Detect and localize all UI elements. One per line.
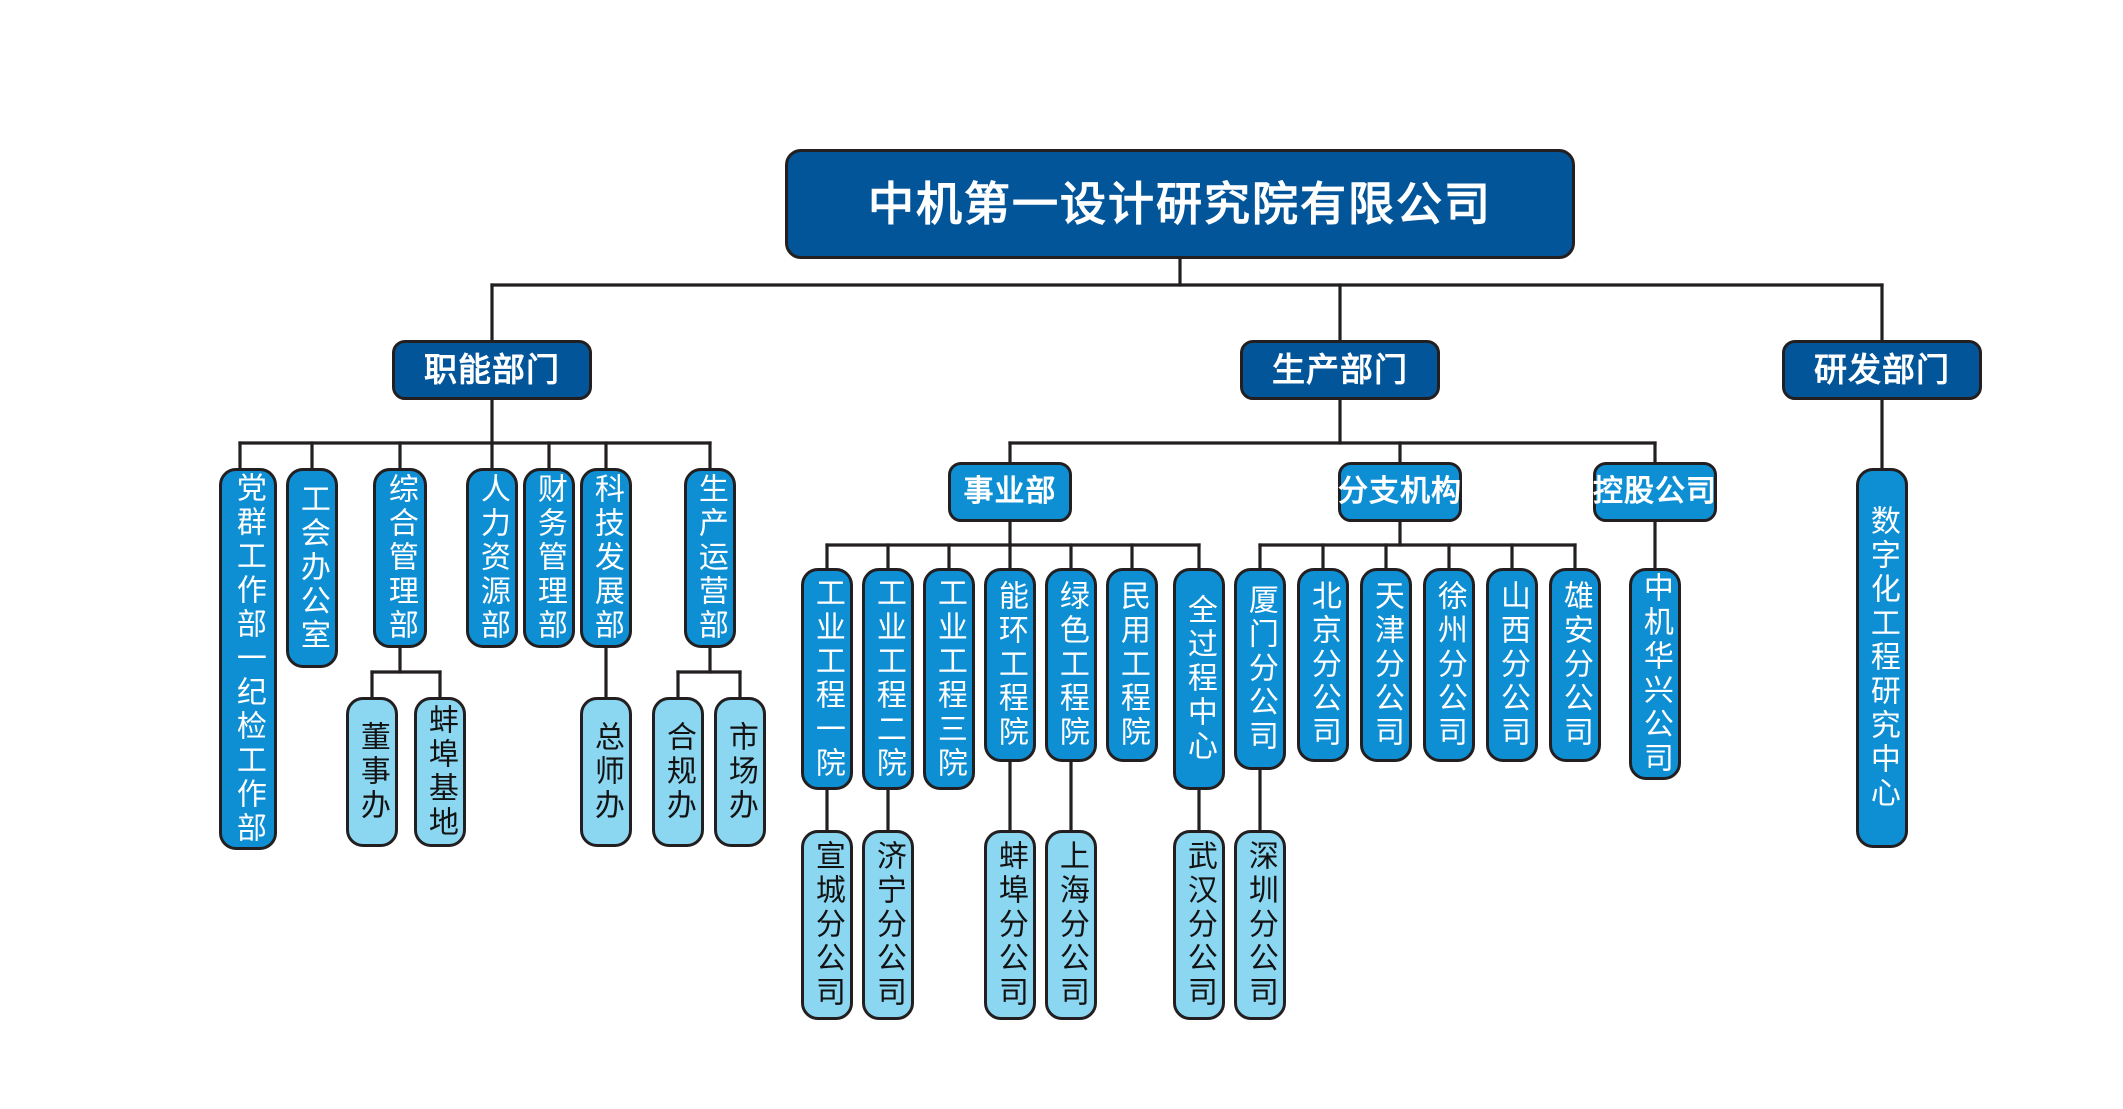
branch-xiongan[interactable]: 雄安分公司 [1549, 568, 1601, 762]
business-sub-jining-label: 济宁分公司 [872, 840, 904, 1010]
rd-digital-center[interactable]: 数字化工程研究中心 [1856, 468, 1908, 848]
business-sub-xuancheng[interactable]: 宣城分公司 [801, 830, 853, 1020]
business-unit-industrial-1-label: 工业工程一院 [811, 577, 843, 781]
business-unit-green-label: 绿色工程院 [1055, 580, 1087, 750]
functional-unit-renli[interactable]: 人力资源部 [466, 468, 518, 648]
branch-xiongan-label: 雄安分公司 [1559, 580, 1591, 750]
functional-unit-zonghe[interactable]: 综合管理部 [373, 468, 427, 648]
business-unit-whole-process[interactable]: 全过程中心 [1173, 568, 1225, 790]
business-sub-wuhan[interactable]: 武汉分公司 [1173, 830, 1225, 1020]
business-unit-green[interactable]: 绿色工程院 [1045, 568, 1097, 762]
functional-sub-bengbu-base[interactable]: 蚌埠基地 [414, 697, 466, 847]
branch-tianjin[interactable]: 天津分公司 [1360, 568, 1412, 762]
group-business-units[interactable]: 事业部 [948, 462, 1072, 522]
functional-sub-shichangban-label: 市场办 [724, 721, 756, 823]
business-unit-industrial-2[interactable]: 工业工程二院 [862, 568, 914, 790]
group-holdings-label: 控股公司 [1593, 476, 1717, 508]
functional-sub-zongshiban[interactable]: 总师办 [580, 697, 632, 847]
group-business-units-label: 事业部 [964, 476, 1057, 508]
department-functional-label: 职能部门 [424, 353, 560, 388]
branch-xiamen-label: 厦门分公司 [1244, 584, 1276, 754]
functional-sub-shichangban[interactable]: 市场办 [714, 697, 766, 847]
group-branches[interactable]: 分支机构 [1338, 462, 1462, 522]
functional-unit-gonghui[interactable]: 工会办公室 [286, 468, 338, 668]
business-unit-civil-label: 民用工程院 [1116, 580, 1148, 750]
functional-unit-caiwu[interactable]: 财务管理部 [523, 468, 575, 648]
functional-unit-keji-label: 科技发展部 [590, 473, 622, 643]
functional-unit-caiwu-label: 财务管理部 [533, 473, 565, 643]
root-node[interactable]: 中机第一设计研究院有限公司 [785, 149, 1575, 259]
functional-unit-shengchan[interactable]: 生产运营部 [684, 468, 736, 648]
branch-beijing-label: 北京分公司 [1307, 580, 1339, 750]
department-production-label: 生产部门 [1272, 353, 1408, 388]
branch-tianjin-label: 天津分公司 [1370, 580, 1402, 750]
business-sub-bengbu[interactable]: 蚌埠分公司 [984, 830, 1036, 1020]
branch-xuzhou[interactable]: 徐州分公司 [1423, 568, 1475, 762]
functional-sub-heguiban[interactable]: 合规办 [652, 697, 704, 847]
business-unit-industrial-3[interactable]: 工业工程三院 [923, 568, 975, 790]
business-sub-bengbu-label: 蚌埠分公司 [994, 840, 1026, 1010]
functional-sub-dongshiban[interactable]: 董事办 [346, 697, 398, 847]
branch-shanxi[interactable]: 山西分公司 [1486, 568, 1538, 762]
branch-sub-shenzhen-label: 深圳分公司 [1244, 840, 1276, 1010]
department-production[interactable]: 生产部门 [1240, 340, 1440, 400]
functional-unit-renli-label: 人力资源部 [476, 473, 508, 643]
functional-sub-zongshiban-label: 总师办 [590, 721, 622, 823]
business-unit-civil[interactable]: 民用工程院 [1106, 568, 1158, 762]
functional-unit-gonghui-label: 工会办公室 [296, 483, 328, 653]
group-holdings[interactable]: 控股公司 [1593, 462, 1717, 522]
business-sub-shanghai[interactable]: 上海分公司 [1045, 830, 1097, 1020]
functional-unit-dangqun[interactable]: 党群工作部一纪检工作部 [219, 468, 277, 850]
business-unit-whole-process-label: 全过程中心 [1183, 594, 1215, 764]
functional-sub-heguiban-label: 合规办 [662, 721, 694, 823]
group-branches-label: 分支机构 [1338, 476, 1462, 508]
functional-sub-dongshiban-label: 董事办 [356, 721, 388, 823]
branch-xiamen[interactable]: 厦门分公司 [1234, 568, 1286, 770]
business-sub-jining[interactable]: 济宁分公司 [862, 830, 914, 1020]
branch-beijing[interactable]: 北京分公司 [1297, 568, 1349, 762]
business-unit-energy-env-label: 能环工程院 [994, 580, 1026, 750]
org-chart-canvas: 中机第一设计研究院有限公司 职能部门 生产部门 研发部门 党群工作部一纪检工作部… [0, 0, 2123, 1109]
functional-unit-keji[interactable]: 科技发展部 [580, 468, 632, 648]
holding-zhongji-huaxing-label: 中机华兴公司 [1639, 572, 1671, 776]
business-unit-industrial-2-label: 工业工程二院 [872, 577, 904, 781]
department-functional[interactable]: 职能部门 [392, 340, 592, 400]
functional-sub-bengbu-base-label: 蚌埠基地 [424, 704, 456, 840]
functional-unit-zonghe-label: 综合管理部 [384, 473, 416, 643]
branch-xuzhou-label: 徐州分公司 [1433, 580, 1465, 750]
functional-unit-shengchan-label: 生产运营部 [694, 473, 726, 643]
holding-zhongji-huaxing[interactable]: 中机华兴公司 [1629, 568, 1681, 780]
business-sub-xuancheng-label: 宣城分公司 [811, 840, 843, 1010]
business-sub-wuhan-label: 武汉分公司 [1183, 840, 1215, 1010]
business-sub-shanghai-label: 上海分公司 [1055, 840, 1087, 1010]
root-label: 中机第一设计研究院有限公司 [868, 180, 1492, 229]
department-rd[interactable]: 研发部门 [1782, 340, 1982, 400]
department-rd-label: 研发部门 [1814, 353, 1950, 388]
branch-sub-shenzhen[interactable]: 深圳分公司 [1234, 830, 1286, 1020]
business-unit-industrial-3-label: 工业工程三院 [933, 577, 965, 781]
branch-shanxi-label: 山西分公司 [1496, 580, 1528, 750]
business-unit-industrial-1[interactable]: 工业工程一院 [801, 568, 853, 790]
business-unit-energy-env[interactable]: 能环工程院 [984, 568, 1036, 762]
functional-unit-dangqun-label: 党群工作部一纪检工作部 [232, 472, 264, 846]
rd-digital-center-label: 数字化工程研究中心 [1866, 505, 1898, 811]
